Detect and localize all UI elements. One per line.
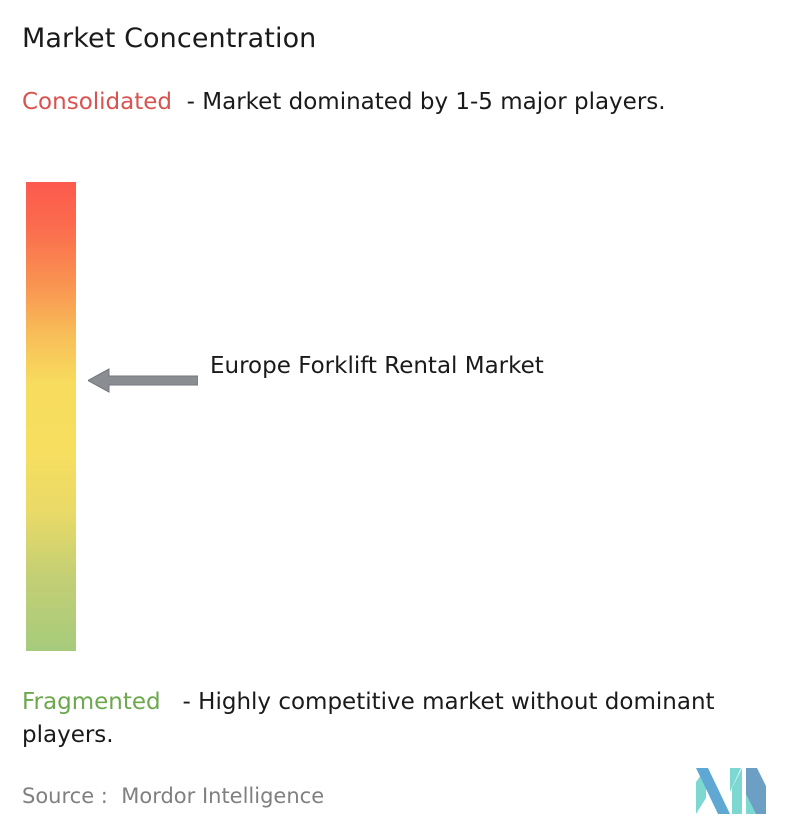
legend-consolidated: Consolidated - Market dominated by 1-5 m… bbox=[22, 86, 782, 119]
page-title: Market Concentration bbox=[22, 22, 316, 56]
left-arrow-icon bbox=[88, 366, 198, 395]
legend-consolidated-description: - Market dominated by 1-5 major players. bbox=[187, 89, 666, 115]
legend-consolidated-keyword: Consolidated bbox=[22, 89, 172, 115]
legend-fragmented-separator bbox=[161, 689, 183, 715]
market-marker-label: Europe Forklift Rental Market bbox=[210, 349, 630, 384]
concentration-gradient-bar bbox=[26, 182, 76, 651]
legend-fragmented-keyword: Fragmented bbox=[22, 689, 161, 715]
mordor-intelligence-logo bbox=[696, 768, 766, 814]
source-attribution: Source : Mordor Intelligence bbox=[22, 782, 324, 810]
legend-consolidated-separator bbox=[172, 89, 187, 115]
legend-fragmented: Fragmented - Highly competitive market w… bbox=[22, 686, 792, 752]
